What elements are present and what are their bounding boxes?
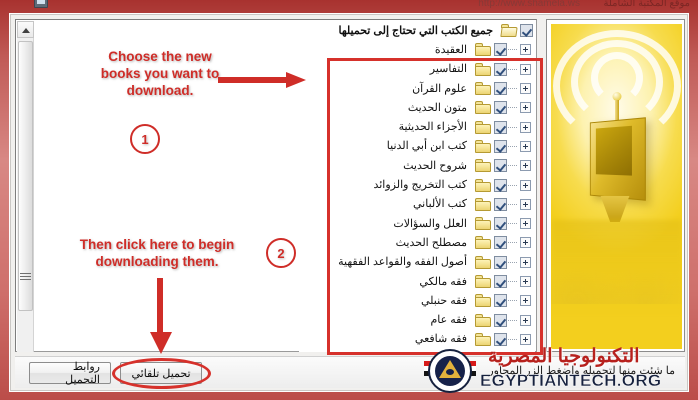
tree-connector-line [508,165,517,166]
tree-item-row[interactable]: فقه مالكي [299,272,535,291]
tree-connector-line [508,339,517,340]
checkbox-checked-icon[interactable] [520,24,533,37]
tree-item-label: أصول الفقه والقواعد الفقهية [336,256,471,268]
tree-item-row[interactable]: كتب التخريج والزوائد [299,175,535,194]
scrollbar-thumb[interactable] [18,41,33,311]
tree-item-label: فقه عام [428,314,471,326]
checkbox-checked-icon[interactable] [494,294,507,307]
auto-download-button[interactable]: تحميل تلقائي [120,362,202,384]
tree-connector-line [508,107,517,108]
tree-item-row[interactable]: شروح الحديث [299,156,535,175]
tree-root-row[interactable]: جميع الكتب التي تحتاج إلى تحميلها [299,21,535,40]
checkbox-checked-icon[interactable] [494,101,507,114]
tree-item-label: العلل والسؤالات [391,218,471,230]
folder-icon [475,256,491,269]
promo-image-panel [546,19,685,352]
triangle-up-icon [22,28,30,33]
tree-item-label: مصطلح الحديث [394,237,471,249]
tree-item-row[interactable]: فقه شافعي [299,330,535,349]
plus-expander-icon[interactable] [520,295,531,306]
vertical-scrollbar[interactable] [17,21,34,352]
checkbox-checked-icon[interactable] [494,43,507,56]
tree-item-row[interactable]: كتب الألباني [299,195,535,214]
tree-item-row[interactable]: متون الحديث [299,98,535,117]
tree-item-label: التفاسير [428,63,471,75]
folder-icon [475,217,491,230]
tree-connector-line [508,49,517,50]
plus-expander-icon[interactable] [520,44,531,55]
tree-item-row[interactable]: فقه عام [299,310,535,329]
title-bar: http://www.shamela.ws موقع المكتبة الشام… [0,0,698,13]
annotation-step1-badge: 1 [130,124,160,154]
tree-item-row[interactable]: فقه حنبلي [299,291,535,310]
application-window: http://www.shamela.ws موقع المكتبة الشام… [0,0,698,400]
tree-item-label: العقيدة [433,44,471,56]
folder-icon [475,294,491,307]
checkbox-checked-icon[interactable] [494,159,507,172]
plus-expander-icon[interactable] [520,122,531,133]
tree-connector-line [508,204,517,205]
plus-expander-icon[interactable] [520,257,531,268]
tree-connector-line [508,88,517,89]
folder-icon [475,159,491,172]
download-links-button[interactable]: روابط التحميل [29,362,111,384]
folder-icon [475,333,491,346]
monitor-icon [34,0,48,8]
checkbox-checked-icon[interactable] [494,217,507,230]
scrollbar-grip-icon [20,273,31,281]
tree-item-row[interactable]: علوم القرآن [299,79,535,98]
plus-expander-icon[interactable] [520,199,531,210]
title-bar-title: موقع المكتبة الشاملة [603,0,690,9]
checkbox-checked-icon[interactable] [494,121,507,134]
tree-root-label: جميع الكتب التي تحتاج إلى تحميلها [336,25,497,37]
tree-item-label: فقه شافعي [413,333,471,345]
folder-icon [475,236,491,249]
folder-icon [475,179,491,192]
plus-expander-icon[interactable] [520,180,531,191]
tree-connector-line [508,262,517,263]
tree-item-row[interactable]: كتب ابن أبي الدنيا [299,137,535,156]
minbar-icon [590,117,646,201]
tree-connector-line [508,185,517,186]
annotation-step2-badge: 2 [266,238,296,268]
checkbox-checked-icon[interactable] [494,82,507,95]
tree-item-row[interactable]: العلل والسؤالات [299,214,535,233]
status-text: ما شئت منها لتحميله واضغط الزر المجاور [488,364,675,377]
tree-connector-line [508,146,517,147]
plus-expander-icon[interactable] [520,102,531,113]
tree-connector-line [508,300,517,301]
folder-icon [475,198,491,211]
checkbox-checked-icon[interactable] [494,63,507,76]
plus-expander-icon[interactable] [520,334,531,345]
checkbox-checked-icon[interactable] [494,314,507,327]
tree-connector-line [508,223,517,224]
plus-expander-icon[interactable] [520,237,531,248]
folder-icon [475,43,491,56]
checkbox-checked-icon[interactable] [494,198,507,211]
tree-item-label: علوم القرآن [410,83,471,95]
tree-connector-line [508,127,517,128]
checkbox-checked-icon[interactable] [494,333,507,346]
plus-expander-icon[interactable] [520,64,531,75]
tree-connector-line [508,320,517,321]
tree-item-row[interactable]: أصول الفقه والقواعد الفقهية [299,253,535,272]
checkbox-checked-icon[interactable] [494,179,507,192]
tree-item-label: الأجزاء الحديثية [397,121,471,133]
folder-icon [475,101,491,114]
books-tree-view[interactable]: جميع الكتب التي تحتاج إلى تحميلها العقيد… [299,21,535,352]
folder-icon [475,314,491,327]
folder-icon [475,63,491,76]
tree-item-row[interactable]: العقيدة [299,40,535,59]
checkbox-checked-icon[interactable] [494,256,507,269]
plus-expander-icon[interactable] [520,218,531,229]
bottom-action-bar: روابط التحميل تحميل تلقائي ما شئت منها ل… [15,356,685,388]
folder-icon [475,121,491,134]
tree-connector-line [508,281,517,282]
tree-item-row[interactable]: الأجزاء الحديثية [299,117,535,136]
tree-item-label: كتب التخريج والزوائد [371,179,471,191]
checkbox-checked-icon[interactable] [494,275,507,288]
annotation-arrow-right-icon [218,72,306,86]
tree-item-label: متون الحديث [406,102,471,114]
open-folder-icon [501,24,517,37]
plus-expander-icon[interactable] [520,276,531,287]
annotation-arrow-down-icon [150,278,172,354]
tree-item-label: فقه مالكي [417,276,471,288]
folder-icon [475,82,491,95]
scroll-up-button[interactable] [17,21,34,38]
folder-icon [475,275,491,288]
tree-connector-line [508,69,517,70]
annotation-step2-text: Then click here to begin downloading the… [48,236,266,270]
checkbox-checked-icon[interactable] [494,236,507,249]
tree-item-list: العقيدةالتفاسيرعلوم القرآنمتون الحديثالأ… [299,40,535,349]
folder-icon [475,140,491,153]
plus-expander-icon[interactable] [520,315,531,326]
antenna-stem-icon [615,100,619,122]
checkbox-checked-icon[interactable] [494,140,507,153]
plus-expander-icon[interactable] [520,141,531,152]
tree-item-row[interactable]: التفاسير [299,60,535,79]
golden-minbar-broadcast-graphic [551,24,682,349]
minbar-base-icon [595,196,635,222]
plus-expander-icon[interactable] [520,160,531,171]
tree-item-row[interactable]: مصطلح الحديث [299,233,535,252]
plus-expander-icon[interactable] [520,83,531,94]
hills-silhouette [551,252,682,304]
tree-item-label: فقه حنبلي [419,295,471,307]
tree-item-label: شروح الحديث [401,160,471,172]
title-bar-url: http://www.shamela.ws [478,0,580,9]
tree-item-label: كتب ابن أبي الدنيا [385,140,471,152]
tree-item-label: كتب الألباني [411,198,471,210]
tree-connector-line [508,242,517,243]
